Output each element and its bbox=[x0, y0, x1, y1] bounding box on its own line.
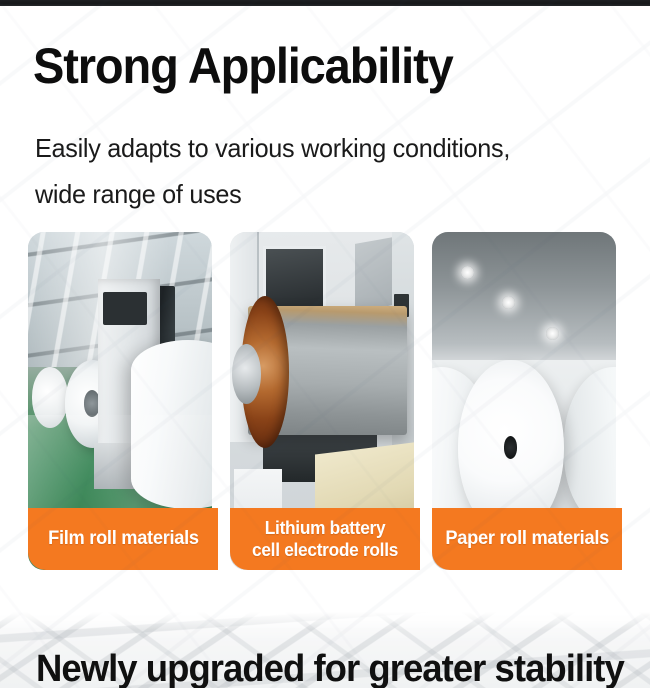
card-caption-film-roll-label: Film roll materials bbox=[42, 528, 204, 550]
promo-page: Strong Applicability Easily adapts to va… bbox=[0, 0, 650, 688]
page-subtitle: Easily adapts to various working conditi… bbox=[35, 125, 617, 217]
top-dark-strip bbox=[0, 0, 650, 6]
subtitle-line-2: wide range of uses bbox=[35, 171, 617, 217]
card-caption-paper-roll-label: Paper roll materials bbox=[439, 528, 614, 550]
caption-line: Film roll materials bbox=[48, 528, 199, 549]
card-caption-row: Film roll materials Lithium battery cell… bbox=[0, 508, 650, 570]
subtitle-line-1: Easily adapts to various working conditi… bbox=[35, 125, 617, 171]
card-caption-paper-roll: Paper roll materials bbox=[432, 508, 622, 570]
footer-section: Newly upgraded for greater stability bbox=[0, 612, 650, 688]
page-title: Strong Applicability bbox=[33, 38, 588, 94]
footer-title: Newly upgraded for greater stability bbox=[36, 646, 612, 688]
footer-fade bbox=[0, 612, 650, 630]
card-caption-lithium-battery: Lithium battery cell electrode rolls bbox=[230, 508, 420, 570]
application-card-row: Film roll materials Lithium battery cell… bbox=[0, 232, 650, 572]
caption-line: Lithium battery bbox=[252, 517, 398, 539]
caption-line: cell electrode rolls bbox=[252, 539, 398, 561]
card-caption-film-roll: Film roll materials bbox=[28, 508, 218, 570]
caption-line: Paper roll materials bbox=[445, 528, 609, 549]
card-caption-lithium-battery-label: Lithium battery cell electrode rolls bbox=[246, 517, 404, 561]
